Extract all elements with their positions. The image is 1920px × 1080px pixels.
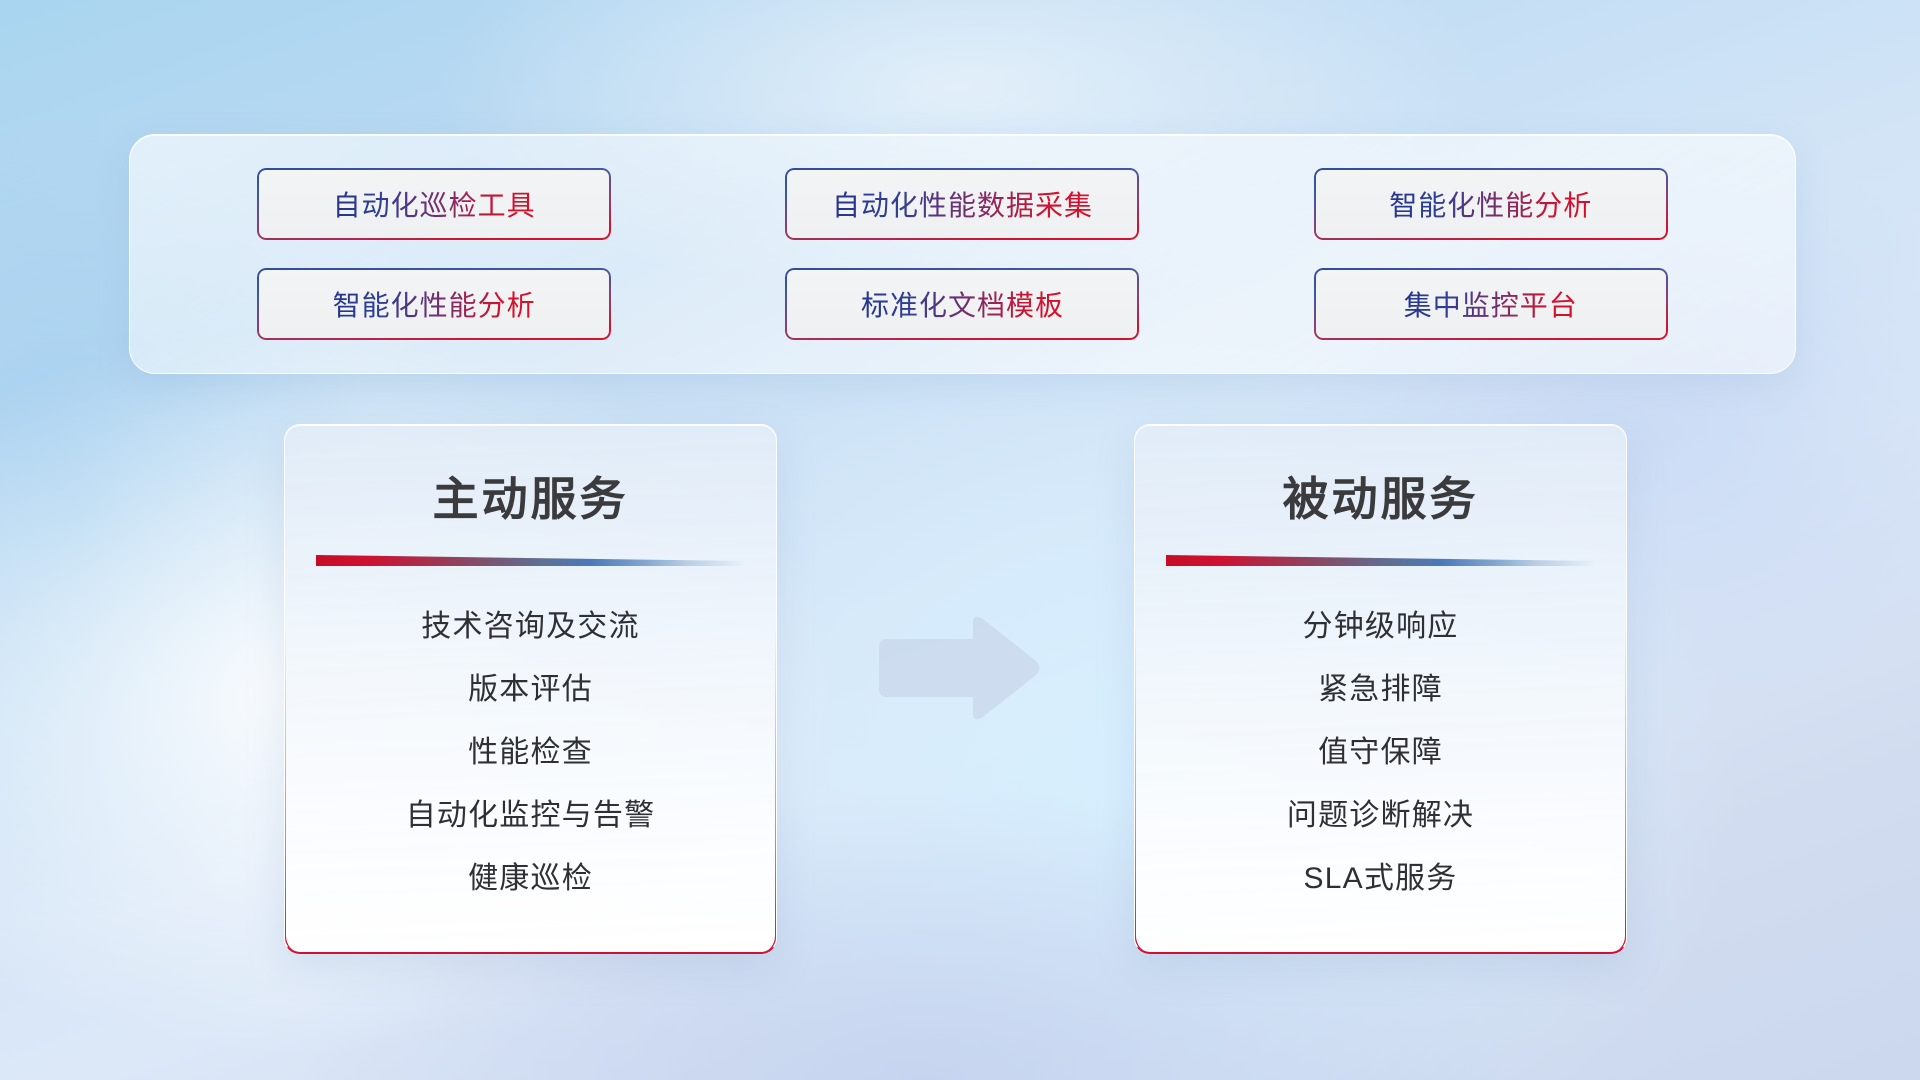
service-card-proactive: 主动服务 技术咨询及交流 版本评估 性能检查 自动化监控与告警 健康巡检 [284,424,777,954]
list-item: SLA式服务 [1304,862,1458,895]
service-card-reactive: 被动服务 分钟级响应 紧急排障 值守保障 问题诊断解决 SLA式服务 [1134,424,1627,954]
capability-tag[interactable]: 自动化巡检工具 [257,168,611,240]
capability-tag[interactable]: 智能化性能分析 [1314,168,1668,240]
list-item: 健康巡检 [468,862,593,895]
capability-tag[interactable]: 标准化文档模板 [785,268,1139,340]
list-item: 紧急排障 [1318,673,1443,706]
list-item: 问题诊断解决 [1287,799,1474,832]
capability-tag-label: 自动化性能数据采集 [832,184,1093,224]
list-item: 分钟级响应 [1303,610,1459,643]
card-title: 被动服务 [1135,463,1626,529]
list-item: 值守保障 [1318,736,1443,769]
capability-tag[interactable]: 智能化性能分析 [257,268,611,340]
capability-tag[interactable]: 集中监控平台 [1314,268,1668,340]
capability-tag-label: 自动化巡检工具 [333,184,536,224]
capability-tag-label: 智能化性能分析 [333,284,536,324]
list-item: 技术咨询及交流 [421,610,639,643]
card-item-list: 技术咨询及交流 版本评估 性能检查 自动化监控与告警 健康巡检 [285,610,776,895]
card-title: 主动服务 [285,463,776,529]
list-item: 自动化监控与告警 [406,799,656,832]
card-title-divider [1166,555,1596,566]
right-arrow-icon [873,613,1043,723]
list-item: 性能检查 [468,736,593,769]
capability-tag-label: 集中监控平台 [1404,284,1578,324]
list-item: 版本评估 [468,673,593,706]
capability-tag[interactable]: 自动化性能数据采集 [785,168,1139,240]
card-item-list: 分钟级响应 紧急排障 值守保障 问题诊断解决 SLA式服务 [1135,610,1626,895]
card-title-divider [316,555,746,566]
capability-tag-label: 智能化性能分析 [1389,184,1592,224]
capability-tag-label: 标准化文档模板 [861,284,1064,324]
capability-tags-panel: 自动化巡检工具 自动化性能数据采集 智能化性能分析 智能化性能分析 标准化文档模… [129,134,1796,374]
diagram-stage: 自动化巡检工具 自动化性能数据采集 智能化性能分析 智能化性能分析 标准化文档模… [0,0,1920,1080]
